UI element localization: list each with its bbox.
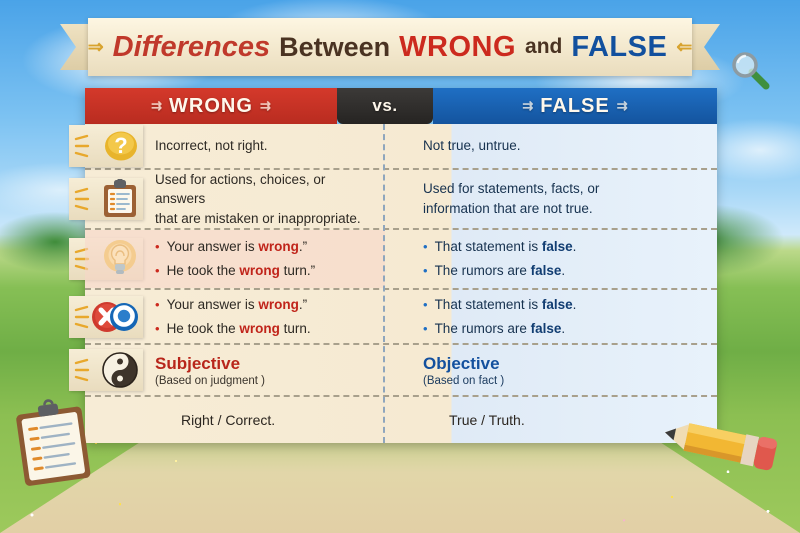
comparison-row: ?Incorrect, not right.Not true, untrue. [85,124,717,170]
row-cell-wrong: •Your answer is wrong.”•He took the wron… [85,230,385,288]
header-ornament-right: ⇉ [260,98,271,114]
bullet-text: Your answer is wrong.” [167,295,308,315]
magnifying-glass-icon [728,48,772,92]
comparison-row: Used for actions, choices, or answerstha… [85,170,717,230]
header-ornament-left-2: ⇉ [522,98,533,114]
bullet-dot-icon: • [155,264,160,277]
title-ornament-left: ⇒ [88,36,104,59]
bullet-emphasis: wrong [258,239,299,254]
versus-label: vs. [372,96,397,116]
title-banner: ⇒ Differences Between WRONG and FALSE ⇐ [60,18,720,76]
bullet-text: The rumors are false. [435,261,566,281]
bullet-item: •Your answer is wrong.” [155,295,371,315]
bullet-item: •That statement is false. [423,237,703,257]
cell-text: Not true, untrue. [423,136,703,156]
row-cell-wrong: •Your answer is wrong.”•He took the wron… [85,290,385,343]
bullet-item: •The rumors are false. [423,319,703,339]
bullet-text: The rumors are false. [435,319,566,339]
bullet-dot-icon: • [155,298,160,311]
row-cell-false: Objective(Based on fact ) [385,345,717,395]
versus-badge: vs. [337,88,433,124]
column-header-false: ⇉ FALSE ⇉ [433,88,717,124]
bullet-text: Your answer is wrong.” [167,237,308,257]
header-ornament-right-2: ⇉ [617,98,628,114]
bullet-text: He took the wrong turn.” [167,261,316,281]
bullet-item: •He took the wrong turn. [155,319,371,339]
bullet-dot-icon: • [423,264,428,277]
bullet-item: •The rumors are false. [423,261,703,281]
bullet-emphasis: wrong [239,263,280,278]
row-cell-false: Not true, untrue. [385,124,717,168]
bullet-dot-icon: • [423,298,428,311]
title-word-differences: Differences [113,31,270,64]
pencil-prop-icon [660,414,780,472]
cell-text-line-1: Used for statements, facts, or [423,179,703,199]
cell-text-line-1: Used for actions, choices, or answers [155,170,371,209]
comparison-row: Subjective(Based on judgment )Objective(… [85,345,717,397]
row-cell-wrong: Incorrect, not right. [85,124,385,168]
bullet-text: That statement is false. [435,295,577,315]
cell-subtext: (Based on judgment ) [155,375,371,387]
bullet-text: That statement is false. [435,237,577,257]
column-header-false-label: FALSE [540,95,609,118]
row-cell-wrong: Right / Correct. [85,397,385,443]
title-word-wrong: WRONG [399,31,516,64]
bullet-text: He took the wrong turn. [167,319,311,339]
bullet-emphasis: wrong [239,321,280,336]
bullet-emphasis: wrong [258,297,299,312]
cell-text: Incorrect, not right. [155,136,371,156]
panel-header: ⇉ WRONG ⇉ vs. ⇉ FALSE ⇉ [85,88,717,124]
cell-subtext: (Based on fact ) [423,375,703,387]
row-cell-false: •That statement is false.•The rumors are… [385,290,717,343]
cell-text-line-2: information that are not true. [423,199,703,219]
page-title: ⇒ Differences Between WRONG and FALSE ⇐ [60,18,720,76]
cell-plain-text: Right / Correct. [155,412,371,428]
comparison-row: •Your answer is wrong.”•He took the wron… [85,290,717,345]
bullet-emphasis: false [531,321,562,336]
bullet-dot-icon: • [423,240,428,253]
title-word-between: Between [279,32,390,63]
cell-text-line-2: that are mistaken or inappropriate. [155,209,371,229]
bullet-dot-icon: • [155,240,160,253]
row-cell-false: Used for statements, facts, orinformatio… [385,170,717,228]
comparison-row: Right / Correct.True / Truth. [85,397,717,443]
bullet-dot-icon: • [155,322,160,335]
bullet-item: •He took the wrong turn.” [155,261,371,281]
row-cell-wrong: Subjective(Based on judgment ) [85,345,385,395]
bullet-item: •That statement is false. [423,295,703,315]
column-header-wrong: ⇉ WRONG ⇉ [85,88,337,124]
comparison-row: •Your answer is wrong.”•He took the wron… [85,230,717,290]
cell-heading: Subjective [155,354,371,374]
title-word-and: and [525,35,562,59]
row-cell-wrong: Used for actions, choices, or answerstha… [85,170,385,228]
bullet-emphasis: false [542,297,573,312]
bullet-emphasis: false [531,263,562,278]
header-ornament-left: ⇉ [151,98,162,114]
clipboard-prop-icon [12,398,98,490]
bullet-item: •Your answer is wrong.” [155,237,371,257]
comparison-panel: ⇉ WRONG ⇉ vs. ⇉ FALSE ⇉ ?Incorrect, not … [85,88,717,443]
bullet-emphasis: false [542,239,573,254]
bullet-dot-icon: • [423,322,428,335]
title-ornament-right: ⇐ [676,36,692,59]
column-header-wrong-label: WRONG [169,95,253,118]
comparison-rows: ?Incorrect, not right.Not true, untrue.U… [85,124,717,443]
cell-heading: Objective [423,354,703,374]
title-word-false: FALSE [571,31,667,64]
row-cell-false: •That statement is false.•The rumors are… [385,230,717,288]
